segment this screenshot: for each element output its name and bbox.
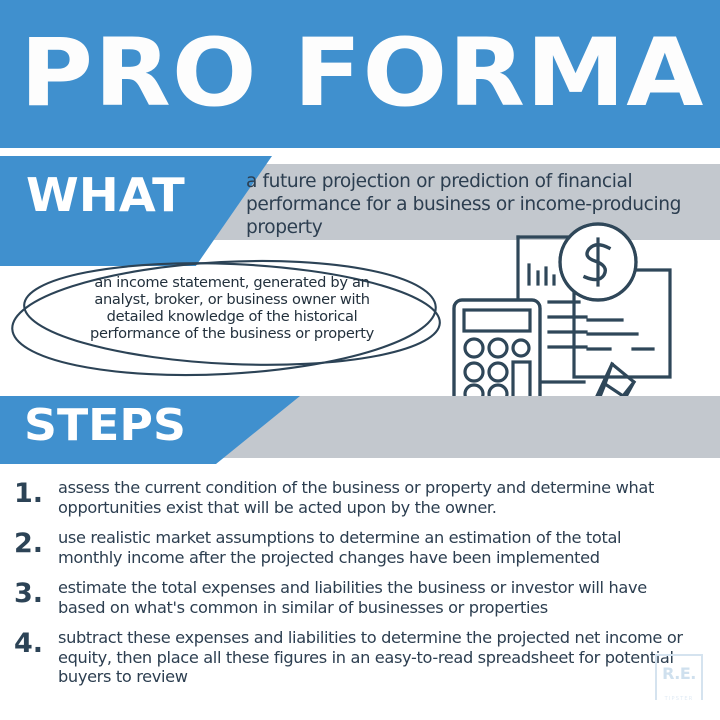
page-title: PRO FORMA: [20, 16, 720, 132]
step-text: use realistic market assumptions to dete…: [58, 528, 720, 567]
oval-callout-text: an income statement, generated by an ana…: [72, 274, 392, 342]
steps-list: 1. assess the current condition of the b…: [0, 478, 720, 698]
step-text: estimate the total expenses and liabilit…: [58, 578, 720, 617]
steps-label: STEPS: [24, 400, 186, 451]
logo-main-text: R.E.: [657, 664, 701, 683]
list-item: 1. assess the current condition of the b…: [0, 478, 720, 517]
step-number: 1.: [14, 478, 58, 507]
oval-callout: an income statement, generated by an ana…: [0, 252, 470, 387]
step-number: 2.: [14, 528, 58, 557]
list-item: 3. estimate the total expenses and liabi…: [0, 578, 720, 617]
dollar-circle-icon: [560, 224, 636, 300]
step-text: subtract these expenses and liabilities …: [58, 628, 720, 687]
logo-sub-text: TIPSTER: [657, 696, 701, 702]
step-number: 4.: [14, 628, 58, 657]
step-number: 3.: [14, 578, 58, 607]
re-tipster-logo: R.E. TIPSTER: [655, 654, 703, 700]
step-text: assess the current condition of the busi…: [58, 478, 720, 517]
pro-forma-infographic: PRO FORMA WHAT a future projection or pr…: [0, 0, 720, 720]
list-item: 2. use realistic market assumptions to d…: [0, 528, 720, 567]
calculator-icon: [454, 300, 540, 407]
what-label: WHAT: [26, 168, 185, 222]
list-item: 4. subtract these expenses and liabiliti…: [0, 628, 720, 687]
